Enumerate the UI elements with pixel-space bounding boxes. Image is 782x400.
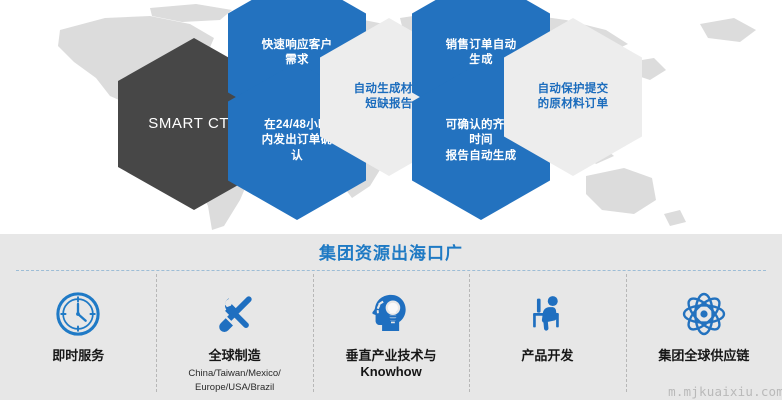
atom-icon [680,288,728,340]
feature-1-label: 即时服务 [52,348,104,364]
hexagon-cluster: SMART CTB 快速响应客户 需求 在24/48小时 内发出订单确 认 自动… [0,0,782,234]
hex-f-label: 自动保护提交 的原材料订单 [538,82,609,112]
site-watermark: m.mjkuaixiu.com [668,384,782,399]
feature-2-sub: China/Taiwan/Mexico/ Europe/USA/Brazil [188,367,280,395]
tools-icon [212,288,258,340]
hex-core-label: SMART CTB [148,114,240,134]
feature-2-label: 全球制造 [209,348,261,364]
band-divider [16,270,766,271]
feature-list: 即时服务 全球制造 China/Taiwan/Mexico/ Europe/US… [0,278,782,400]
band-title: 集团资源出海口广 [0,239,782,264]
hexagon-diagram-section: SMART CTB 快速响应客户 需求 在24/48小时 内发出订单确 认 自动… [0,0,782,234]
clock-icon [55,288,101,340]
infographic-slide: SMART CTB 快速响应客户 需求 在24/48小时 内发出订单确 认 自动… [0,0,782,400]
feature-5-label: 集团全球供应链 [658,348,749,364]
head-lightbulb-icon [368,288,414,340]
feature-product-development[interactable]: 产品开发 [469,278,625,400]
feature-global-manufacturing[interactable]: 全球制造 China/Taiwan/Mexico/ Europe/USA/Bra… [156,278,312,400]
feature-instant-service[interactable]: 即时服务 [0,278,156,400]
feature-vertical-industry-knowhow[interactable]: 垂直产业技术与 Knowhow [313,278,469,400]
feature-3-label: 垂直产业技术与 Knowhow [346,348,437,381]
person-desk-icon [524,288,570,340]
feature-4-label: 产品开发 [521,348,573,364]
feature-global-supply-chain[interactable]: 集团全球供应链 [626,278,782,400]
